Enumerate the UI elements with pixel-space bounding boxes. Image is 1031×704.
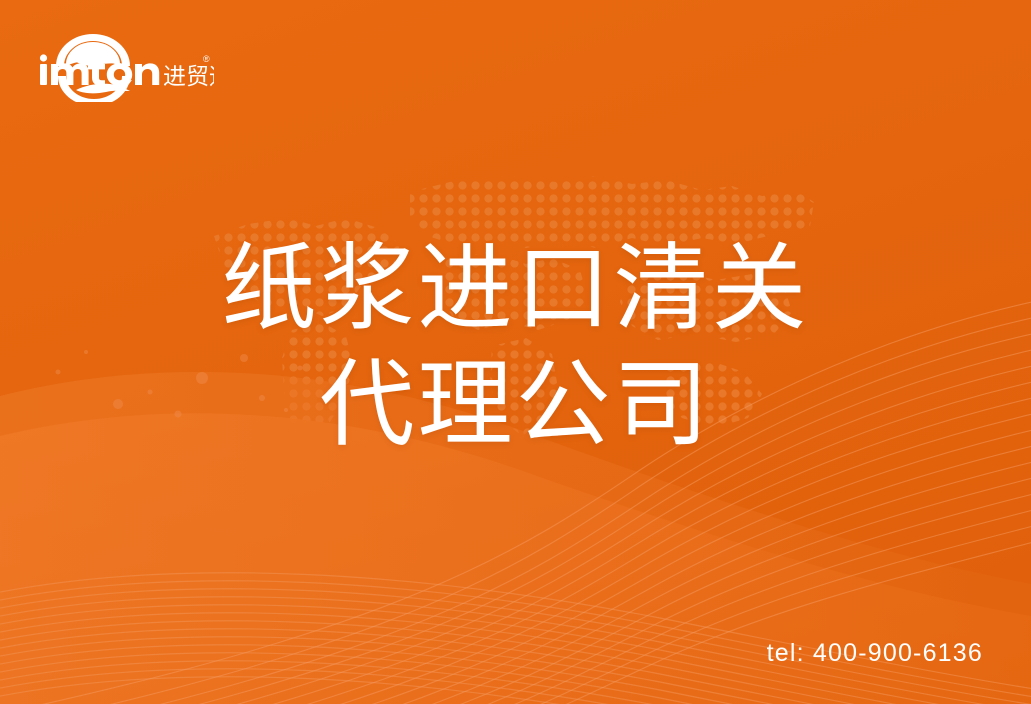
page-title: 纸浆进口清关 代理公司 bbox=[0, 232, 1031, 464]
brand-logo[interactable]: 进贸通 ® bbox=[36, 28, 214, 102]
promo-banner: 进贸通 ® 纸浆进口清关 代理公司 tel: 400-900-6136 bbox=[0, 0, 1031, 704]
globe-bird-ship-logo: 进贸通 ® bbox=[36, 28, 214, 102]
contact-phone[interactable]: tel: 400-900-6136 bbox=[767, 639, 983, 668]
registered-trademark-icon: ® bbox=[203, 54, 210, 64]
logo-chinese-text: 进贸通 bbox=[163, 64, 214, 90]
headline-line-2: 代理公司 bbox=[0, 348, 1031, 464]
headline-line-1: 纸浆进口清关 bbox=[0, 232, 1031, 348]
